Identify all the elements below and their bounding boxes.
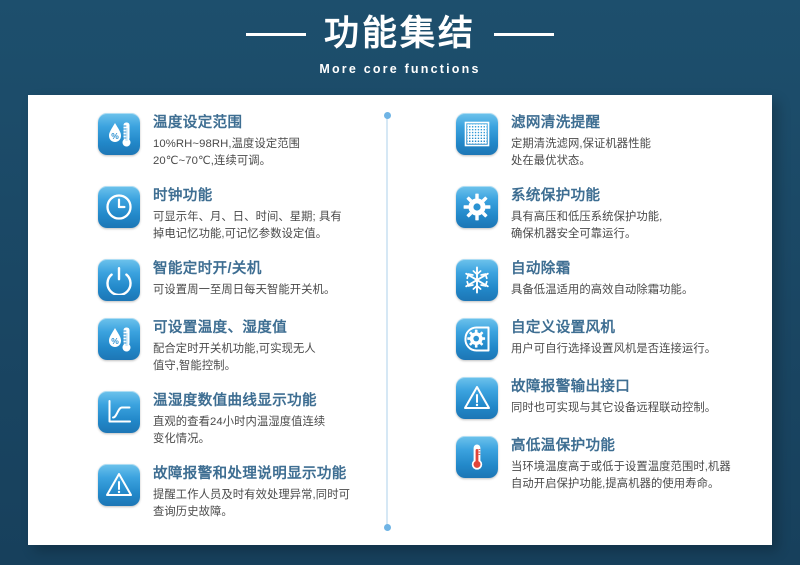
feature-text: 自定义设置风机用户可自行选择设置风机是否连接运行。 <box>511 318 716 358</box>
humidity-thermometer-icon: % <box>98 113 140 155</box>
features-card: % 温度设定范围10%RH~98RH,温度设定范围20℃~70℃,连续可调。 时… <box>28 95 772 545</box>
feature-description: 可设置周一至周日每天智能开关机。 <box>153 282 335 299</box>
feature-item: 高低温保护功能当环境温度高于或低于设置温度范围时,机器自动开启保护功能,提高机器… <box>456 436 762 492</box>
title-rule-right <box>494 33 554 36</box>
warning-triangle-icon <box>456 377 498 419</box>
feature-columns: % 温度设定范围10%RH~98RH,温度设定范围20℃~70℃,连续可调。 时… <box>28 95 772 545</box>
feature-title: 高低温保护功能 <box>511 437 731 455</box>
feature-description: 直观的查看24小时内温湿度值连续变化情况。 <box>153 414 325 447</box>
svg-text:%: % <box>111 131 119 141</box>
feature-text: 故障报警和处理说明显示功能提醒工作人员及时有效处理异常,同时可查询历史故障。 <box>153 464 350 520</box>
feature-description-line: 可显示年、月、日、时间、星期; 具有 <box>153 209 342 226</box>
feature-description-line: 当环境温度高于或低于设置温度范围时,机器 <box>511 459 731 476</box>
feature-description: 具备低温适用的高效自动除霜功能。 <box>511 282 693 299</box>
feature-description-line: 查询历史故障。 <box>153 504 350 521</box>
feature-text: 温度设定范围10%RH~98RH,温度设定范围20℃~70℃,连续可调。 <box>153 113 300 169</box>
feature-item: % 可设置温度、湿度值配合定时开关机功能,可实现无人值守,智能控制。 <box>98 318 390 374</box>
power-icon <box>98 259 140 301</box>
feature-text: 滤网清洗提醒定期清洗滤网,保证机器性能处在最优状态。 <box>511 113 651 169</box>
clock-icon <box>98 186 140 228</box>
feature-description-line: 自动开启保护功能,提高机器的使用寿命。 <box>511 476 731 493</box>
feature-description-line: 具有高压和低压系统保护功能, <box>511 209 662 226</box>
title-rule-left <box>246 33 306 36</box>
feature-title: 自动除霜 <box>511 260 693 278</box>
feature-description-line: 同时也可实现与其它设备远程联动控制。 <box>511 400 716 417</box>
humidity-thermometer-icon: % <box>98 318 140 360</box>
feature-column-right: 滤网清洗提醒定期清洗滤网,保证机器性能处在最优状态。 系统保护功能具有高压和低压… <box>400 95 772 545</box>
feature-title: 滤网清洗提醒 <box>511 114 651 132</box>
feature-title: 故障报警输出接口 <box>511 378 716 396</box>
filter-mesh-icon <box>456 113 498 155</box>
feature-description-line: 确保机器安全可靠运行。 <box>511 226 662 243</box>
feature-title: 温度设定范围 <box>153 114 300 132</box>
warning-triangle-icon <box>98 464 140 506</box>
feature-text: 时钟功能可显示年、月、日、时间、星期; 具有掉电记忆功能,可记忆参数设定值。 <box>153 186 342 242</box>
feature-description: 当环境温度高于或低于设置温度范围时,机器自动开启保护功能,提高机器的使用寿命。 <box>511 459 731 492</box>
feature-description: 定期清洗滤网,保证机器性能处在最优状态。 <box>511 136 651 169</box>
feature-description-line: 用户可自行选择设置风机是否连接运行。 <box>511 341 716 358</box>
feature-description-line: 值守,智能控制。 <box>153 358 316 375</box>
feature-text: 高低温保护功能当环境温度高于或低于设置温度范围时,机器自动开启保护功能,提高机器… <box>511 436 731 492</box>
feature-description-line: 20℃~70℃,连续可调。 <box>153 153 300 170</box>
feature-description: 具有高压和低压系统保护功能,确保机器安全可靠运行。 <box>511 209 662 242</box>
feature-item: 智能定时开/关机可设置周一至周日每天智能开关机。 <box>98 259 390 301</box>
svg-text:%: % <box>111 336 119 346</box>
feature-text: 自动除霜具备低温适用的高效自动除霜功能。 <box>511 259 693 299</box>
curve-chart-icon <box>98 391 140 433</box>
feature-item: 系统保护功能具有高压和低压系统保护功能,确保机器安全可靠运行。 <box>456 186 762 242</box>
page-root: 功能集结 More core functions % 温度设定范围10%RH~ <box>0 0 800 565</box>
feature-text: 温湿度数值曲线显示功能直观的查看24小时内温湿度值连续变化情况。 <box>153 391 325 447</box>
feature-item: 滤网清洗提醒定期清洗滤网,保证机器性能处在最优状态。 <box>456 113 762 169</box>
blower-fan-icon <box>456 318 498 360</box>
feature-description: 配合定时开关机功能,可实现无人值守,智能控制。 <box>153 341 316 374</box>
feature-description-line: 提醒工作人员及时有效处理异常,同时可 <box>153 487 350 504</box>
feature-item: 自定义设置风机用户可自行选择设置风机是否连接运行。 <box>456 318 762 360</box>
feature-description-line: 配合定时开关机功能,可实现无人 <box>153 341 316 358</box>
feature-text: 智能定时开/关机可设置周一至周日每天智能开关机。 <box>153 259 335 299</box>
feature-text: 可设置温度、湿度值配合定时开关机功能,可实现无人值守,智能控制。 <box>153 318 316 374</box>
feature-item: 故障报警输出接口同时也可实现与其它设备远程联动控制。 <box>456 377 762 419</box>
feature-title: 系统保护功能 <box>511 187 662 205</box>
feature-description: 10%RH~98RH,温度设定范围20℃~70℃,连续可调。 <box>153 136 300 169</box>
feature-description-line: 处在最优状态。 <box>511 153 651 170</box>
feature-title: 故障报警和处理说明显示功能 <box>153 465 350 483</box>
feature-description: 可显示年、月、日、时间、星期; 具有掉电记忆功能,可记忆参数设定值。 <box>153 209 342 242</box>
feature-title: 自定义设置风机 <box>511 319 716 337</box>
feature-description: 提醒工作人员及时有效处理异常,同时可查询历史故障。 <box>153 487 350 520</box>
feature-description-line: 具备低温适用的高效自动除霜功能。 <box>511 282 693 299</box>
feature-description-line: 可设置周一至周日每天智能开关机。 <box>153 282 335 299</box>
feature-item: 温湿度数值曲线显示功能直观的查看24小时内温湿度值连续变化情况。 <box>98 391 390 447</box>
feature-title: 时钟功能 <box>153 187 342 205</box>
feature-title: 可设置温度、湿度值 <box>153 319 316 337</box>
feature-title: 温湿度数值曲线显示功能 <box>153 392 325 410</box>
feature-description-line: 10%RH~98RH,温度设定范围 <box>153 136 300 153</box>
feature-description-line: 直观的查看24小时内温湿度值连续 <box>153 414 325 431</box>
feature-item: 故障报警和处理说明显示功能提醒工作人员及时有效处理异常,同时可查询历史故障。 <box>98 464 390 520</box>
feature-description-line: 变化情况。 <box>153 431 325 448</box>
gear-icon <box>456 186 498 228</box>
feature-description: 用户可自行选择设置风机是否连接运行。 <box>511 341 716 358</box>
page-title: 功能集结 <box>324 14 476 54</box>
feature-text: 故障报警输出接口同时也可实现与其它设备远程联动控制。 <box>511 377 716 417</box>
feature-column-left: % 温度设定范围10%RH~98RH,温度设定范围20℃~70℃,连续可调。 时… <box>28 95 400 545</box>
feature-description-line: 定期清洗滤网,保证机器性能 <box>511 136 651 153</box>
feature-item: 自动除霜具备低温适用的高效自动除霜功能。 <box>456 259 762 301</box>
page-subtitle: More core functions <box>0 62 800 76</box>
feature-item: 时钟功能可显示年、月、日、时间、星期; 具有掉电记忆功能,可记忆参数设定值。 <box>98 186 390 242</box>
feature-description-line: 掉电记忆功能,可记忆参数设定值。 <box>153 226 342 243</box>
snowflake-icon <box>456 259 498 301</box>
title-row: 功能集结 <box>0 0 800 54</box>
feature-item: % 温度设定范围10%RH~98RH,温度设定范围20℃~70℃,连续可调。 <box>98 113 390 169</box>
page-header: 功能集结 More core functions <box>0 0 800 95</box>
feature-title: 智能定时开/关机 <box>153 260 335 278</box>
feature-text: 系统保护功能具有高压和低压系统保护功能,确保机器安全可靠运行。 <box>511 186 662 242</box>
thermometer-icon <box>456 436 498 478</box>
feature-description: 同时也可实现与其它设备远程联动控制。 <box>511 400 716 417</box>
